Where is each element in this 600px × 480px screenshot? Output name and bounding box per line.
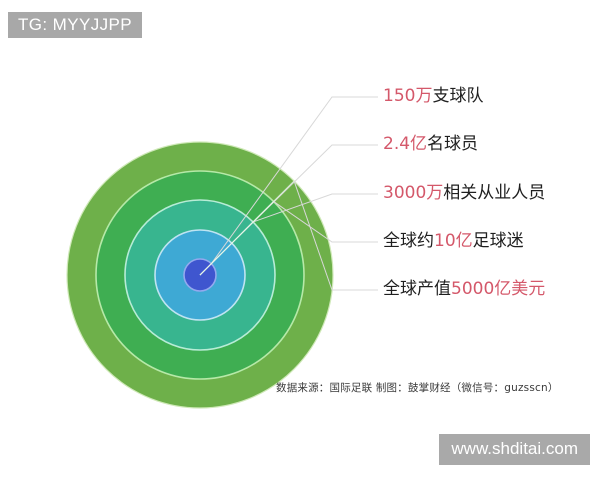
source-credit-line: 数据来源：国际足联 制图：鼓掌财经（微信号：guzsscn）: [276, 380, 559, 395]
callout-label-5: 全球产值5000亿美元: [383, 281, 545, 298]
watermark-badge: www.shditai.com: [439, 434, 590, 465]
watermark-label: www.shditai.com: [451, 439, 578, 458]
callout-label-1: 150万支球队: [383, 88, 483, 105]
callout-text-4: 足球迷: [473, 231, 524, 251]
callout-label-3: 3000万相关从业人员: [383, 185, 545, 202]
chart-canvas: TG: MYYJJPP 150万支球队2.4亿名球员3000万相关从业人员全球约…: [0, 0, 600, 480]
callout-number-3: 3000万: [383, 183, 443, 203]
callout-label-2: 2.4亿名球员: [383, 136, 478, 153]
callout-prefix-5: 全球产值: [383, 279, 451, 299]
callout-number-2: 2.4亿: [383, 134, 427, 154]
callout-text-2: 名球员: [427, 134, 478, 154]
callout-number-1: 150万: [383, 86, 432, 106]
callout-text-3: 相关从业人员: [443, 183, 545, 203]
callout-number-4: 10亿: [434, 231, 473, 251]
callout-prefix-4: 全球约: [383, 231, 434, 251]
callout-label-4: 全球约10亿足球迷: [383, 233, 524, 250]
callout-number-5: 5000亿美元: [451, 279, 545, 299]
callout-text-1: 支球队: [432, 86, 483, 106]
